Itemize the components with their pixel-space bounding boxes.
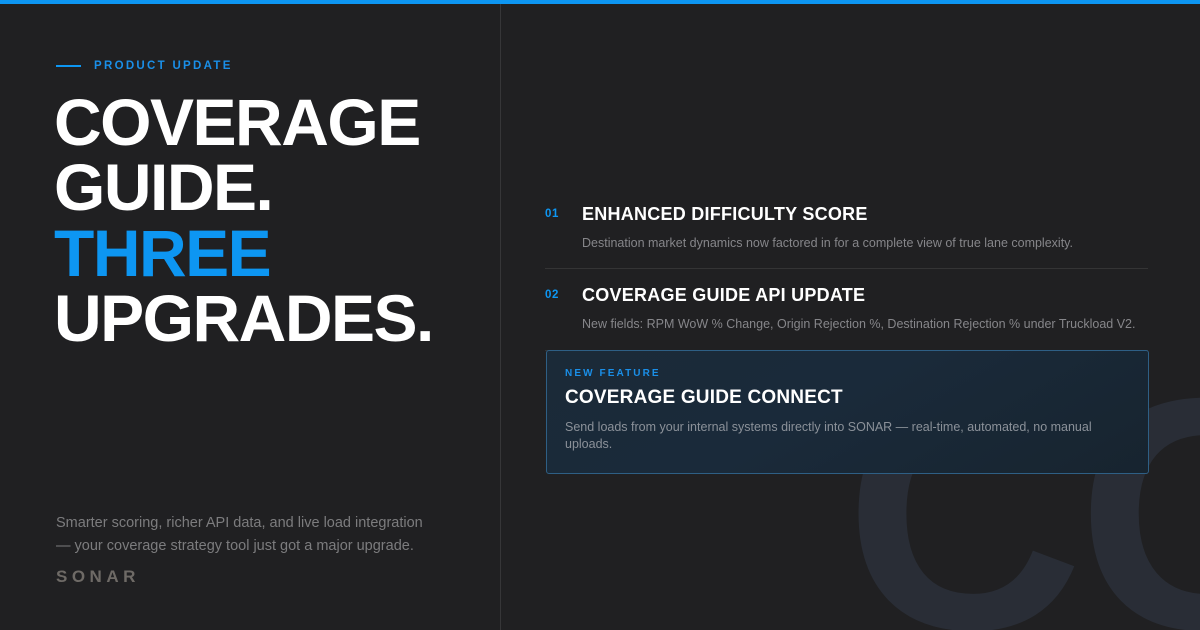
footer-summary: Smarter scoring, richer API data, and li… [56, 512, 476, 587]
feature-item-01[interactable]: 01 ENHANCED DIFFICULTY SCORE Destination… [545, 204, 1148, 269]
page-title: COVERAGE GUIDE. THREE UPGRADES. [54, 90, 494, 351]
feature-list: 01 ENHANCED DIFFICULTY SCORE Destination… [545, 204, 1148, 367]
headline-line-1: COVERAGE [54, 90, 494, 155]
feature-description: New fields: RPM WoW % Change, Origin Rej… [582, 316, 1148, 333]
feature-title: ENHANCED DIFFICULTY SCORE [582, 204, 1148, 226]
new-feature-card[interactable]: NEW FEATURE COVERAGE GUIDE CONNECT Send … [546, 350, 1149, 474]
headline-line-3: THREE [54, 221, 494, 286]
footer-line-2: — your coverage strategy tool just got a… [56, 535, 476, 558]
left-column: PRODUCT UPDATE COVERAGE GUIDE. THREE UPG… [0, 4, 500, 630]
feature-item-02[interactable]: 02 COVERAGE GUIDE API UPDATE New fields:… [545, 285, 1148, 350]
new-feature-badge: NEW FEATURE [565, 368, 1130, 379]
feature-description: Destination market dynamics now factored… [582, 235, 1148, 252]
eyebrow-dash-icon [56, 65, 81, 67]
feature-number: 02 [545, 285, 582, 301]
footer-line-1: Smarter scoring, richer API data, and li… [56, 512, 476, 535]
new-feature-description: Send loads from your internal systems di… [565, 419, 1130, 453]
feature-title: COVERAGE GUIDE API UPDATE [582, 285, 1148, 307]
right-column: 01 ENHANCED DIFFICULTY SCORE Destination… [501, 4, 1200, 630]
sonar-wordmark: SONAR [56, 567, 476, 587]
slide-canvas: CG PRODUCT UPDATE COVERAGE GUIDE. THREE … [0, 0, 1200, 630]
headline-line-4: UPGRADES. [54, 286, 494, 351]
feature-body: COVERAGE GUIDE API UPDATE New fields: RP… [582, 285, 1148, 332]
top-accent-bar [0, 0, 1200, 4]
new-feature-title: COVERAGE GUIDE CONNECT [565, 387, 1130, 409]
feature-number: 01 [545, 204, 582, 220]
product-update-eyebrow: PRODUCT UPDATE [56, 60, 233, 72]
eyebrow-label: PRODUCT UPDATE [94, 60, 233, 72]
headline-line-2: GUIDE. [54, 155, 494, 220]
feature-body: ENHANCED DIFFICULTY SCORE Destination ma… [582, 204, 1148, 251]
